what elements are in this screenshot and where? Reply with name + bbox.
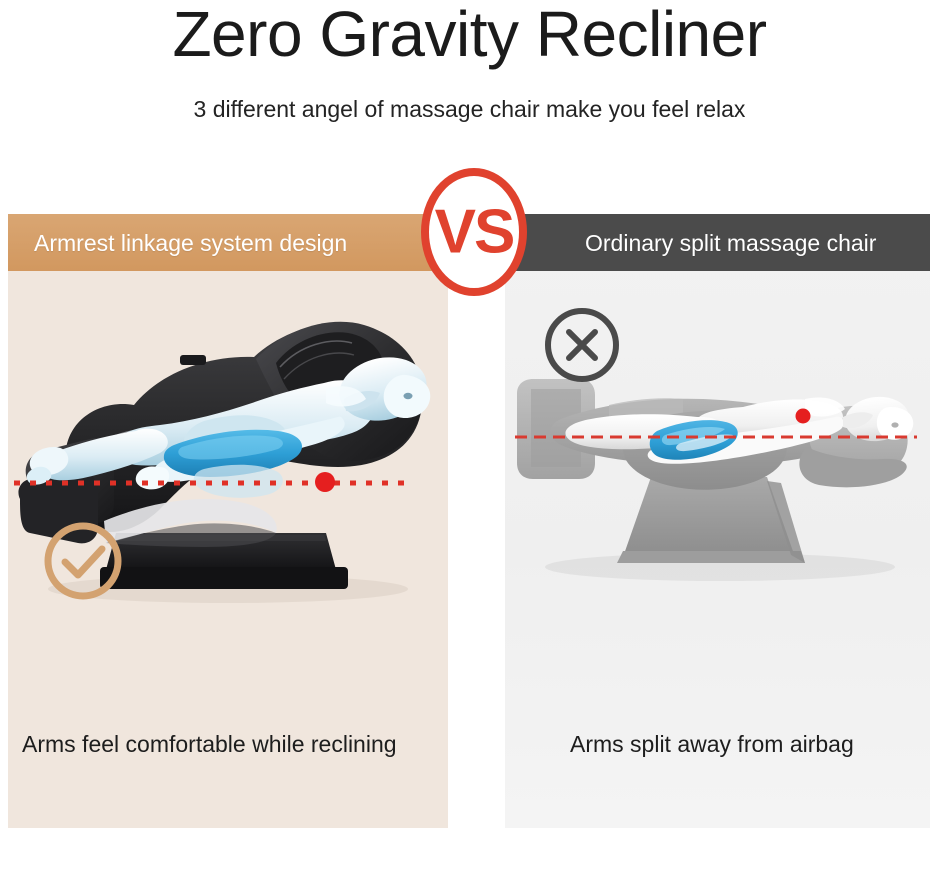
chair-base-plate (100, 567, 348, 589)
vs-badge-label: VS (435, 198, 514, 267)
check-circle-icon (41, 519, 125, 603)
figure-eye (891, 422, 898, 427)
figure-eye (404, 393, 413, 399)
vs-badge: VS (419, 167, 529, 298)
panel-header-left: Armrest linkage system design (8, 214, 448, 271)
panel-header-label-left: Armrest linkage system design (34, 229, 347, 257)
x-circle-icon (541, 304, 623, 386)
alignment-marker (315, 472, 335, 492)
panel-header-label-right: Ordinary split massage chair (585, 229, 876, 257)
comparison-panel-right: Ordinary split massage chair (505, 214, 930, 828)
panel-caption-right: Arms split away from airbag (570, 729, 854, 759)
alignment-marker (796, 409, 811, 424)
comparison-panel-left: Armrest linkage system design (8, 214, 448, 828)
chair-control-pod (180, 355, 206, 365)
chair-base-foot (617, 551, 805, 563)
panel-header-right: Ordinary split massage chair (505, 214, 930, 271)
comparison-section: Armrest linkage system design (0, 0, 939, 837)
panel-caption-left: Arms feel comfortable while reclining (22, 729, 397, 759)
